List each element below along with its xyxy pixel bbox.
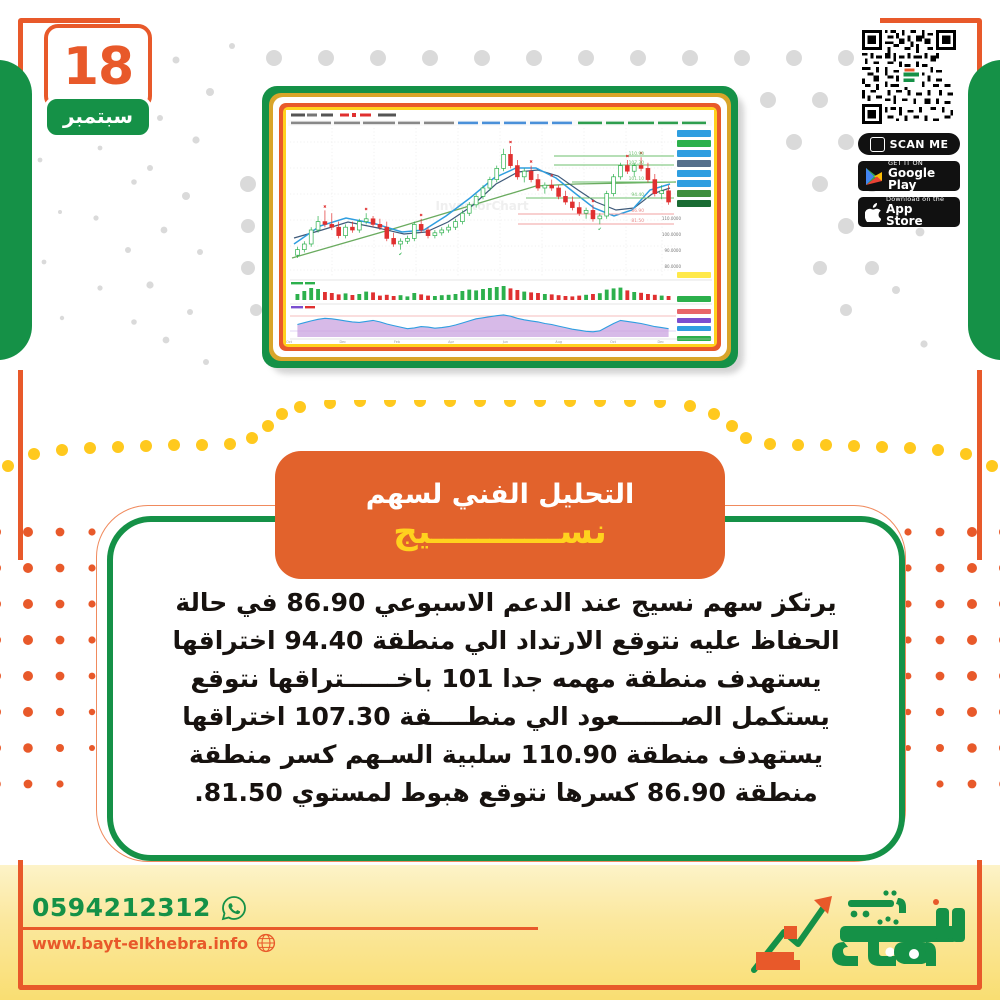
- svg-text:94.40: 94.40: [631, 192, 644, 198]
- svg-text:107.30: 107.30: [629, 160, 645, 166]
- svg-text:81.50: 81.50: [631, 218, 644, 224]
- chart-canvas[interactable]: InvestorChart ✖: [286, 110, 714, 344]
- qr-mini-icon: [870, 137, 885, 152]
- analysis-line: يستكمل الصـــــــعود الي منطــــقة 107.3…: [133, 698, 879, 736]
- svg-text:✖: ✖: [364, 207, 368, 212]
- svg-text:100.0000: 100.0000: [662, 232, 682, 237]
- svg-text:Dec: Dec: [339, 340, 346, 344]
- globe-icon: [256, 933, 276, 953]
- qr-code-icon: [862, 30, 956, 124]
- title-main-label: التحليل الفني لسهم: [366, 479, 635, 510]
- analysis-line: منطقة 86.90 كسرها نتوقع هبوط لمستوي 81.5…: [133, 774, 879, 812]
- svg-text:90.0000: 90.0000: [664, 248, 681, 253]
- date-month: سبتمبر: [44, 96, 152, 138]
- stock-chart: InvestorChart ✖: [286, 110, 714, 344]
- svg-text:✖: ✖: [529, 159, 533, 164]
- svg-text:Apr: Apr: [448, 340, 454, 344]
- website-url: www.bayt-elkhebra.info: [32, 934, 248, 953]
- svg-text:Jun: Jun: [502, 340, 508, 344]
- chart-screenshot-frame: InvestorChart ✖: [262, 86, 738, 368]
- svg-text:InvestorChart: InvestorChart: [435, 199, 528, 213]
- svg-text:80.0000: 80.0000: [664, 264, 681, 269]
- svg-text:110.90: 110.90: [629, 151, 645, 157]
- poster-root: 18 سبتمبر: [0, 0, 1000, 1000]
- analysis-text-body: يرتكز سهم نسيج عند الدعم الاسبوعي 86.90 …: [133, 584, 879, 812]
- svg-text:101.10: 101.10: [629, 176, 645, 182]
- qr-code-card[interactable]: [858, 26, 960, 128]
- analysis-line: الحفاظ عليه نتوقع الارتداد الي منطقة 94.…: [133, 622, 879, 660]
- svg-text:✖: ✖: [591, 198, 595, 203]
- svg-text:Oct: Oct: [610, 340, 617, 344]
- scan-me-label: SCAN ME: [890, 138, 949, 151]
- svg-text:Oct: Oct: [286, 340, 293, 344]
- footer: 0594212312 www.bayt-elkhebra.info: [0, 865, 1000, 1000]
- title-stock-label: نســـــــــــيج: [393, 512, 607, 552]
- app-store-big-label: App Store: [886, 203, 953, 228]
- svg-text:Dec: Dec: [657, 340, 664, 344]
- whatsapp-contact[interactable]: 0594212312: [32, 893, 247, 922]
- analysis-line: يستهدف منطقة 110.90 سلبية السـهم كسر منط…: [133, 736, 879, 774]
- svg-text:Aug: Aug: [555, 340, 562, 344]
- title-banner: التحليل الفني لسهم نســـــــــــيج: [275, 451, 725, 579]
- frame-gap-top: [120, 8, 880, 32]
- green-accent-bar-right: [968, 60, 1000, 360]
- svg-text:✖: ✖: [323, 204, 327, 209]
- svg-text:✖: ✖: [419, 212, 423, 217]
- green-accent-bar-left: [0, 60, 32, 360]
- svg-text:✖: ✖: [550, 173, 554, 178]
- svg-text:Feb: Feb: [394, 340, 400, 344]
- svg-text:✔: ✔: [598, 227, 602, 232]
- website-contact[interactable]: www.bayt-elkhebra.info: [32, 933, 276, 953]
- analysis-line: يستهدف منطقة مهمه جدا 101 باخــــــتراقه…: [133, 660, 879, 698]
- whatsapp-number: 0594212312: [32, 893, 211, 922]
- svg-text:✖: ✖: [509, 140, 513, 145]
- date-badge: 18 سبتمبر: [44, 24, 152, 138]
- scan-me-badge[interactable]: SCAN ME: [858, 133, 960, 155]
- date-day: 18: [63, 41, 133, 93]
- footer-divider: [18, 927, 538, 930]
- google-play-badge[interactable]: GET IT ON Google Play: [858, 161, 960, 191]
- whatsapp-icon: [221, 895, 247, 921]
- app-store-badge[interactable]: Download on the App Store: [858, 197, 960, 227]
- svg-text:86.90: 86.90: [631, 208, 644, 214]
- brand-logo: [740, 886, 972, 978]
- google-play-icon: [865, 167, 883, 186]
- google-play-big-label: Google Play: [888, 167, 953, 192]
- apple-icon: [865, 203, 881, 222]
- analysis-line: يرتكز سهم نسيج عند الدعم الاسبوعي 86.90 …: [133, 584, 879, 622]
- chart-header: [288, 112, 712, 126]
- qr-and-store-block: SCAN ME GET IT ON Google Play Download o…: [858, 26, 960, 227]
- svg-text:✔: ✔: [399, 253, 403, 258]
- svg-text:110.0000: 110.0000: [662, 216, 682, 221]
